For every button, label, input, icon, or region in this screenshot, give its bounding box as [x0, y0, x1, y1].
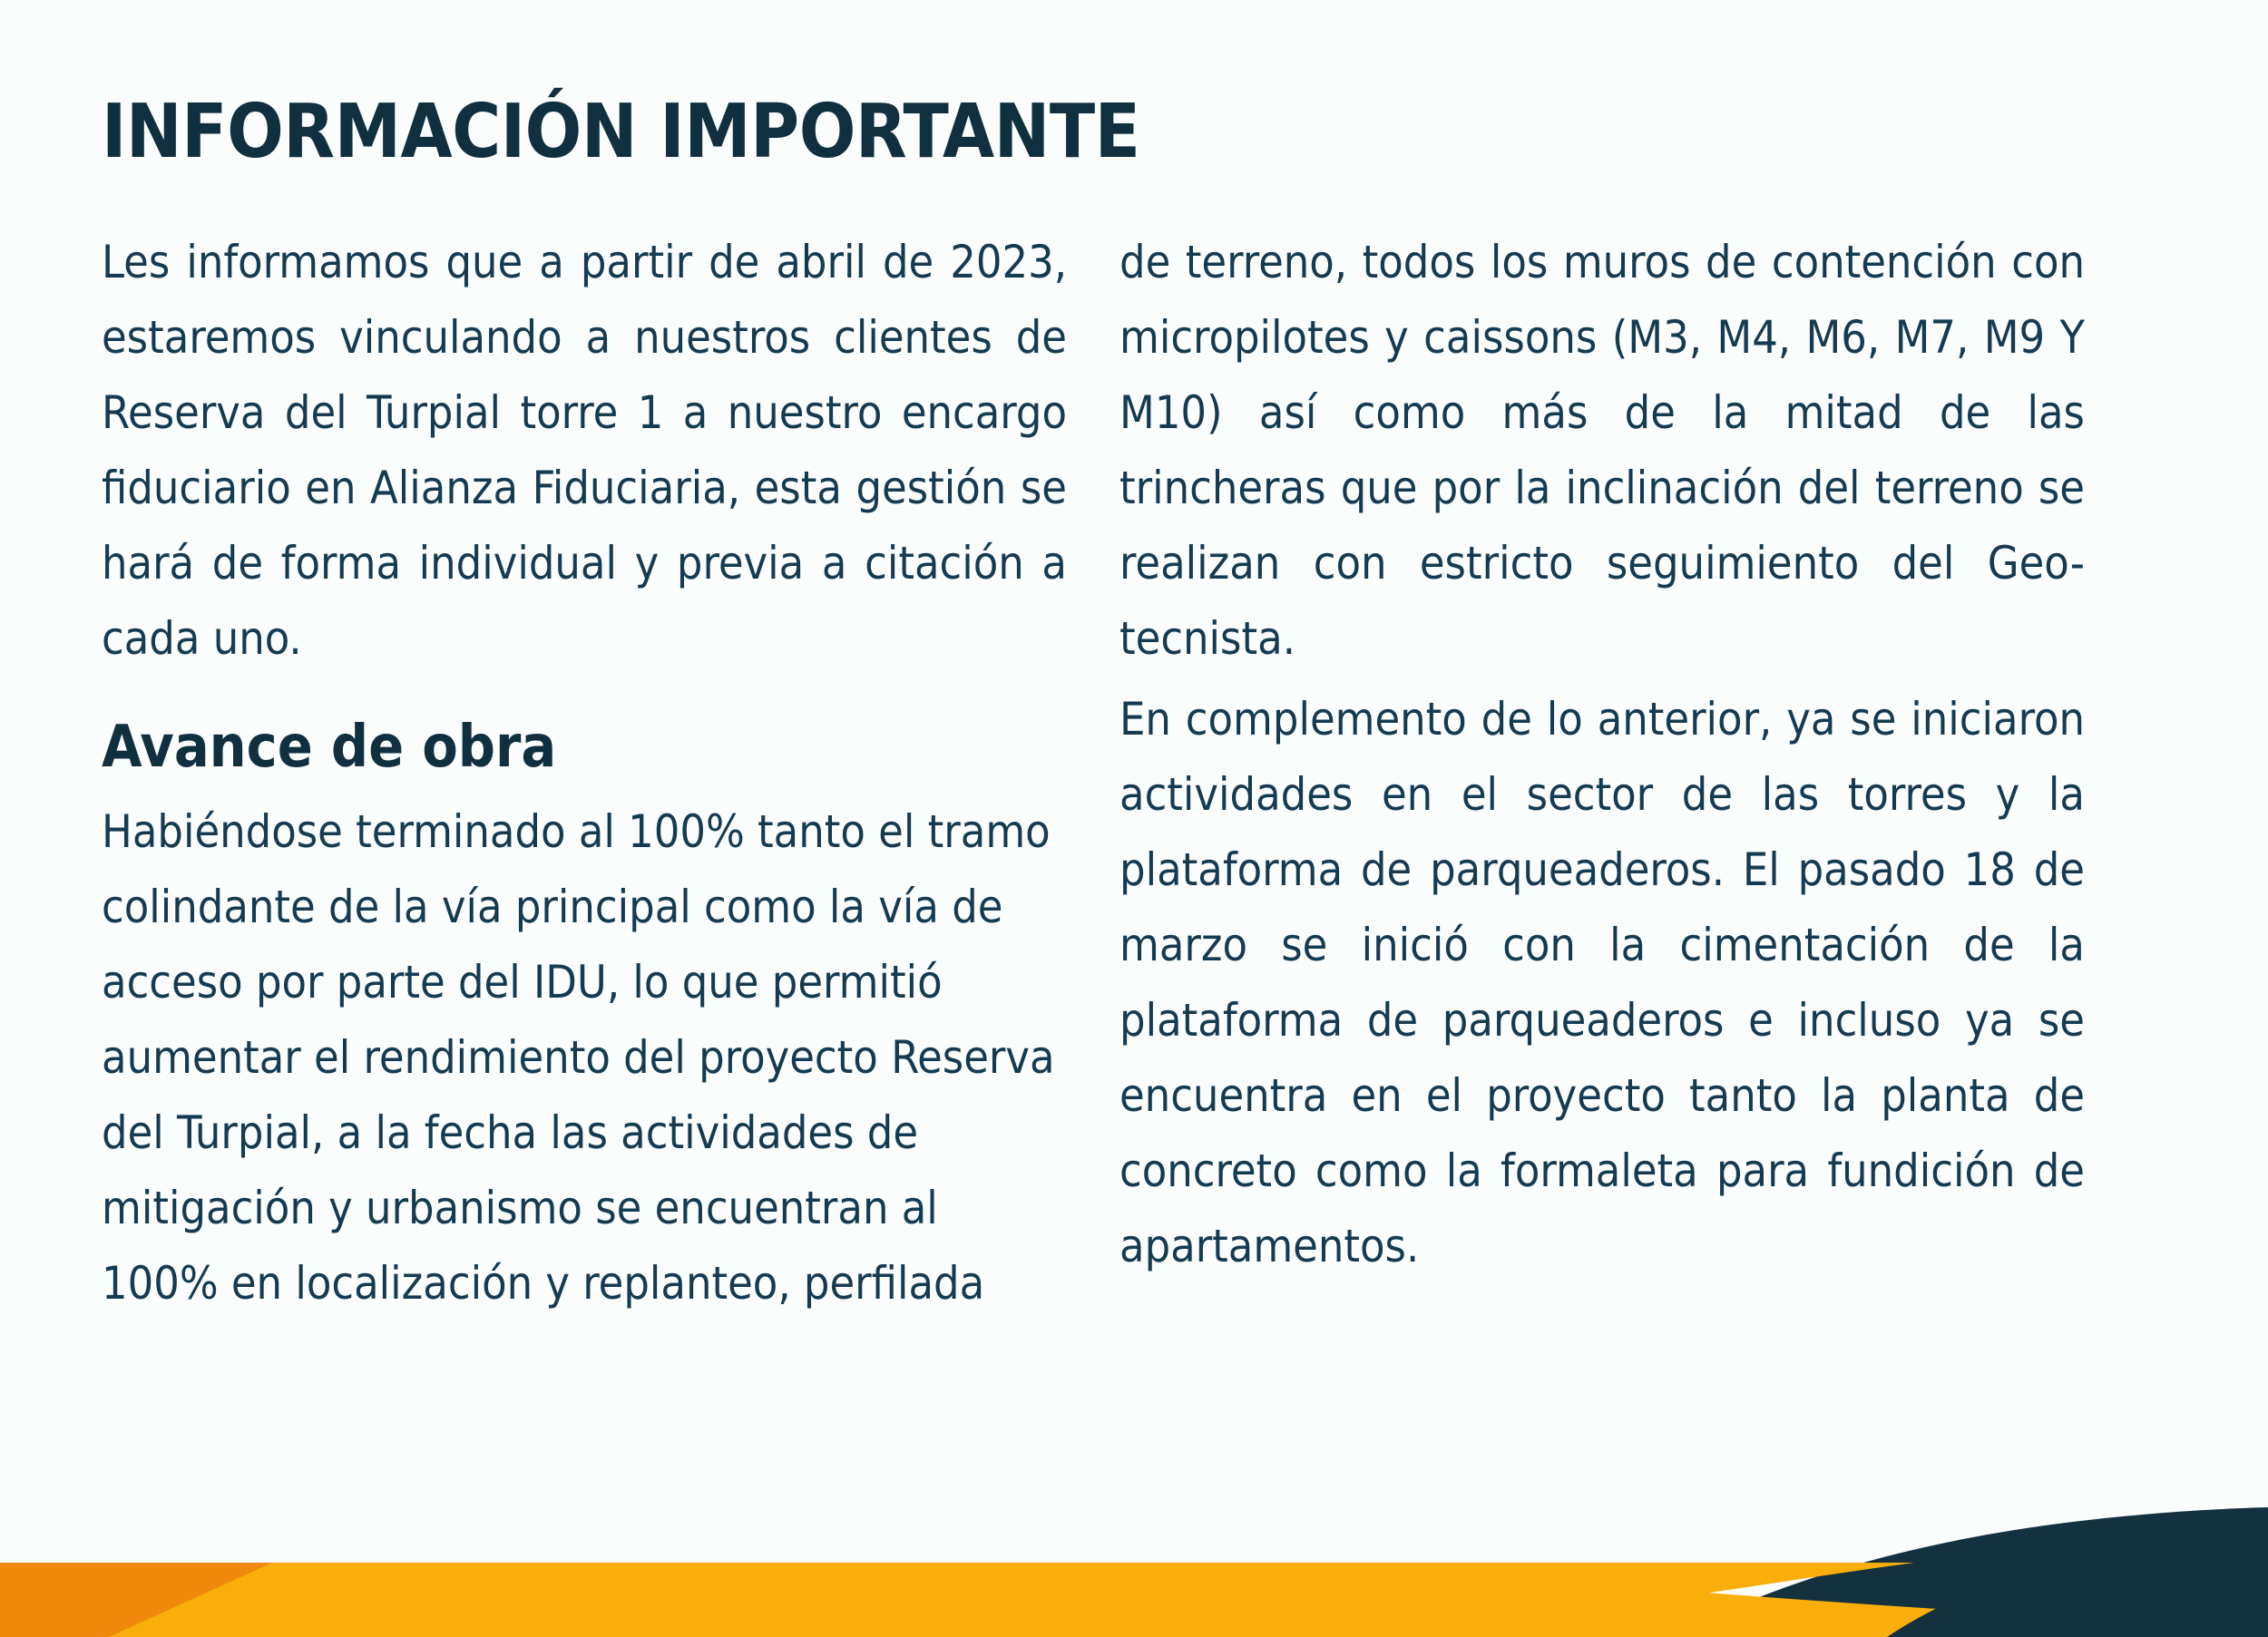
left-paragraph-avance: Habiéndose terminado al 100% tanto el tr… [102, 794, 1067, 1321]
wave-amber-top [109, 1563, 1914, 1637]
page-title: INFORMACIÓN IMPORTANTE [102, 93, 1140, 171]
section-heading-avance-de-obra: Avance de obra [102, 715, 1067, 782]
right-paragraph-complemento: En complemento de lo anterior, ya se ini… [1119, 682, 2085, 1284]
wave-navy-front [1887, 1525, 2268, 1637]
left-column: Les informamos que a partir de abril de … [102, 225, 1067, 1327]
newsletter-page: INFORMACIÓN IMPORTANTE Les informamos qu… [0, 0, 2268, 1637]
wave-amber [0, 1572, 2268, 1637]
two-column-body: Les informamos que a partir de abril de … [102, 225, 2085, 1327]
wave-orange-dark [0, 1563, 2268, 1637]
right-column: de terreno, todos los muros de contenció… [1119, 225, 2085, 1327]
left-paragraph-intro: Les informamos que a partir de abril de … [102, 225, 1067, 677]
wave-navy [1669, 1507, 2268, 1637]
right-paragraph-muros: de terreno, todos los muros de contenció… [1119, 225, 2085, 677]
footer-wave-decoration [0, 1447, 2268, 1637]
